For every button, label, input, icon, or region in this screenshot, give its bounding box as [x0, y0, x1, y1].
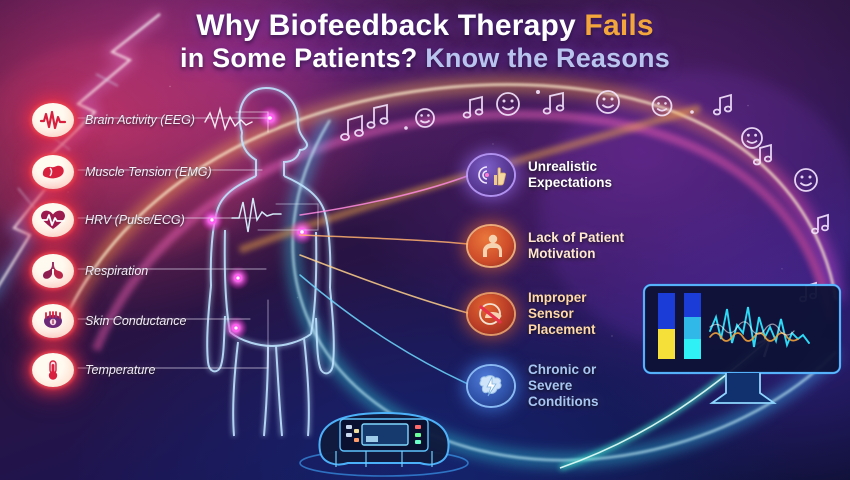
reason-line2: Expectations	[528, 175, 612, 191]
reason-line2: Severe	[528, 378, 599, 394]
no-sensor-icon	[468, 294, 514, 334]
title-line2-main: in Some Patients?	[180, 43, 425, 73]
infographic-poster: Why Biofeedback Therapy Fails in Some Pa…	[0, 0, 850, 480]
music-note-icon	[714, 95, 731, 115]
reason-line2: Motivation	[528, 246, 624, 262]
music-note-icon	[754, 145, 771, 165]
discouraged-person-icon	[468, 226, 514, 266]
title-line2-accent: Know the Reasons	[425, 43, 670, 73]
reason-line3: Conditions	[528, 394, 599, 410]
metric-row-temperature[interactable]: Temperature	[32, 353, 155, 387]
metric-label: Respiration	[85, 264, 148, 278]
music-note-icon	[812, 215, 828, 233]
lungs-icon	[32, 254, 74, 288]
target-thumbsup-icon	[468, 155, 514, 195]
reason-line1: Improper	[528, 290, 596, 306]
reason-line1: Chronic or	[528, 362, 599, 378]
smiley-icon	[416, 109, 434, 127]
metric-row-skin-conductance[interactable]: Skin Conductance	[32, 304, 186, 338]
reason-line2: Sensor	[528, 306, 596, 322]
biofeedback-monitor	[640, 283, 845, 413]
biofeedback-device	[296, 405, 471, 477]
reason-row-lack-of-motivation[interactable]: Lack of Patient Motivation	[468, 226, 624, 266]
title-line1-accent: Fails	[584, 9, 653, 42]
music-note-icon	[544, 93, 564, 114]
muscle-icon	[32, 155, 74, 189]
reason-row-unrealistic-expectations[interactable]: Unrealistic Expectations	[468, 155, 612, 195]
smiley-icon	[597, 91, 619, 113]
smiley-icon	[795, 169, 817, 191]
metric-row-eeg[interactable]: Brain Activity (EEG)	[32, 103, 195, 137]
reason-row-chronic-severe-conditions[interactable]: Chronic or Severe Conditions	[468, 362, 599, 410]
brain-bolt-icon	[468, 366, 514, 406]
smiley-icon	[497, 93, 519, 115]
sensor-dots	[200, 105, 315, 340]
metric-row-respiration[interactable]: Respiration	[32, 254, 148, 288]
reason-row-improper-sensor-placement[interactable]: Improper Sensor Placement	[468, 290, 596, 338]
reason-line1: Unrealistic	[528, 159, 612, 175]
heart-pulse-icon	[32, 203, 74, 237]
music-note-icon	[464, 97, 483, 118]
skin-electrode-icon	[32, 304, 74, 338]
reason-label: Improper Sensor Placement	[528, 290, 596, 338]
reason-label: Chronic or Severe Conditions	[528, 362, 599, 410]
reason-line3: Placement	[528, 322, 596, 338]
metric-label: Brain Activity (EEG)	[85, 113, 195, 127]
reason-label: Lack of Patient Motivation	[528, 230, 624, 262]
smiley-icon	[653, 97, 672, 116]
reason-label: Unrealistic Expectations	[528, 159, 612, 191]
page-title: Why Biofeedback Therapy Fails in Some Pa…	[0, 8, 850, 75]
metric-row-emg[interactable]: Muscle Tension (EMG)	[32, 155, 212, 189]
metric-label: Skin Conductance	[85, 314, 186, 328]
title-line1-main: Why Biofeedback Therapy	[196, 9, 584, 42]
reason-line1: Lack of Patient	[528, 230, 624, 246]
metric-label: Temperature	[85, 363, 155, 377]
metric-row-hrv[interactable]: HRV (Pulse/ECG)	[32, 203, 185, 237]
metric-label: HRV (Pulse/ECG)	[85, 213, 185, 227]
thermometer-icon	[32, 353, 74, 387]
metric-label: Muscle Tension (EMG)	[85, 165, 212, 179]
human-body-outline	[190, 80, 400, 440]
smiley-icon	[742, 128, 762, 148]
eeg-wave-icon	[32, 103, 74, 137]
